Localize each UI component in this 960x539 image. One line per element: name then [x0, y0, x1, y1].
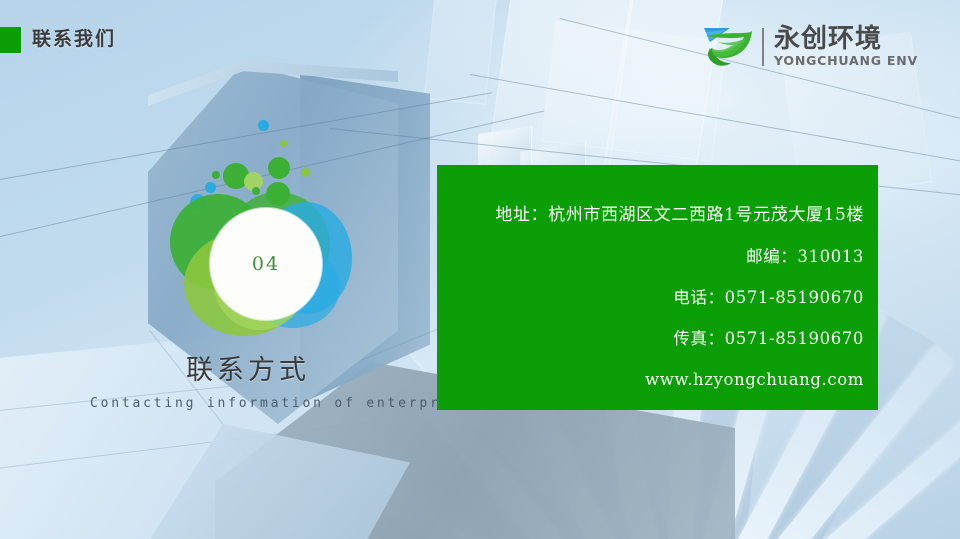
header-green-marker-icon	[0, 27, 21, 53]
bubble-blue-small	[258, 120, 269, 131]
ceiling-panel	[424, 0, 498, 105]
logo-divider	[762, 28, 764, 66]
section-title: 联系方式	[186, 348, 310, 387]
bubble-blue-tiny	[205, 182, 216, 193]
bubble-green-tiny	[212, 171, 220, 179]
badge-core-circle: 04	[210, 208, 322, 320]
contact-line-fax: 传真：0571-85190670	[457, 318, 864, 359]
logo-name-en: YONGCHUANG ENV	[774, 55, 918, 68]
contact-info-panel: 地址：杭州市西湖区文二西路1号元茂大厦15楼 邮编：310013 电话：0571…	[437, 165, 878, 410]
company-logo: 永创环境 YONGCHUANG ENV	[700, 20, 918, 74]
contact-line-phone: 电话：0571-85190670	[457, 277, 864, 318]
yongchuang-leaf-swoosh-logo-icon	[700, 22, 756, 72]
bubble-green-tiny	[252, 187, 260, 195]
badge-number: 04	[252, 253, 280, 275]
contact-line-postcode: 邮编：310013	[457, 236, 864, 277]
section-number-badge: 04	[168, 120, 388, 340]
page-title: 联系我们	[32, 27, 116, 53]
bubble-lightgreen-tiny	[280, 140, 287, 147]
logo-text: 永创环境 YONGCHUANG ENV	[774, 26, 918, 68]
logo-name-cn: 永创环境	[774, 26, 918, 52]
section-subtitle: Contacting information of enterprise	[90, 396, 473, 411]
contact-line-website: www.hzyongchuang.com	[457, 359, 864, 400]
presentation-slide: 联系我们 永创环境 YONGCHUANG ENV	[0, 0, 960, 539]
bubble-green-med	[268, 157, 290, 179]
contact-line-address: 地址：杭州市西湖区文二西路1号元茂大厦15楼	[457, 195, 864, 236]
bubble-lightgreen-tiny	[301, 168, 310, 177]
